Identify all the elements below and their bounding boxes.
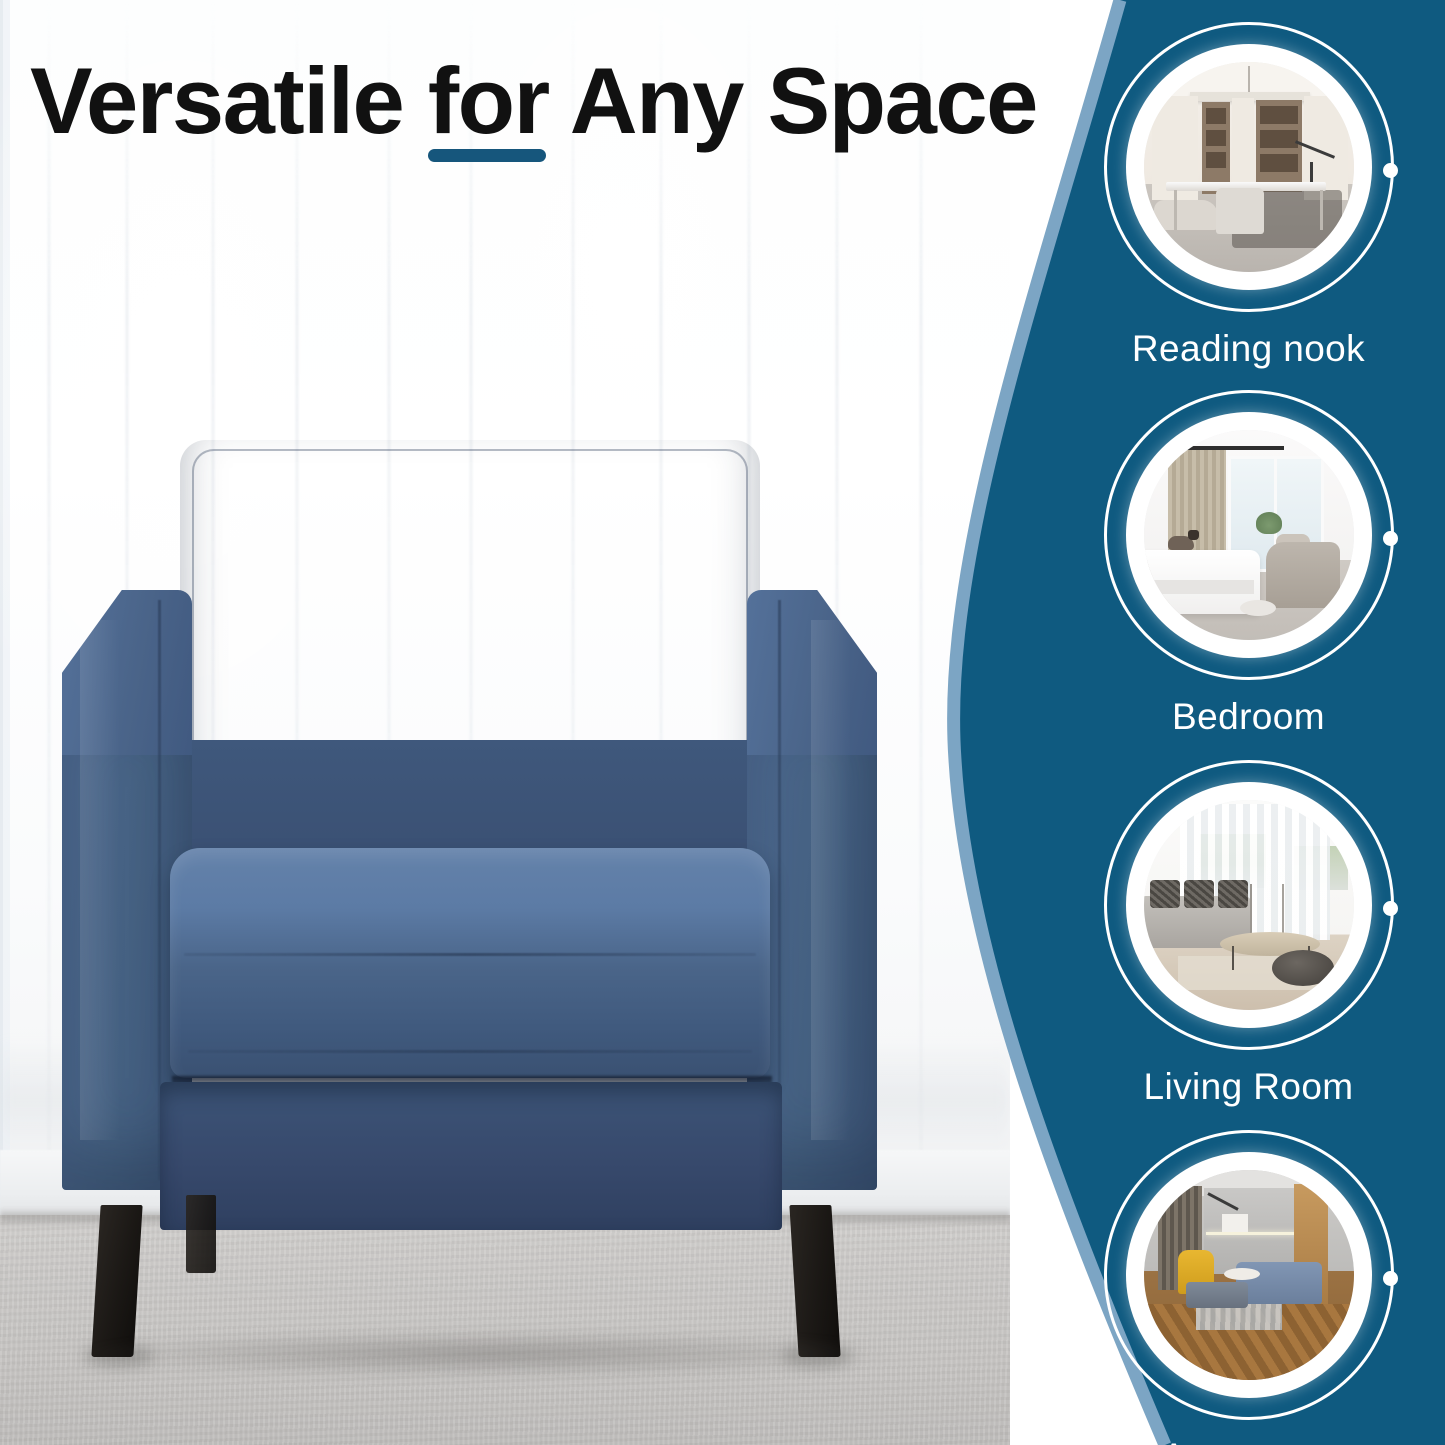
seat-cushion-seam <box>184 953 756 956</box>
armchair-back-highlight <box>212 462 632 762</box>
ring-dot-icon <box>1383 531 1398 546</box>
thumbnail-wrapper <box>1104 1130 1394 1420</box>
decorative-branches <box>1250 884 1284 934</box>
bed-skirt <box>1150 580 1254 594</box>
table-leg <box>1232 946 1234 970</box>
throw-pillow <box>1184 880 1214 908</box>
desk-chair <box>1216 188 1264 234</box>
desk-leg <box>1174 190 1177 230</box>
thumbnail-wrapper <box>1104 22 1394 312</box>
side-sofa <box>1154 200 1218 230</box>
bedroom-scene <box>1144 430 1354 640</box>
bookshelf-inner <box>1260 154 1298 172</box>
ottoman <box>1186 1282 1248 1308</box>
arm-highlight <box>80 620 120 1140</box>
apartment-thumbnail <box>1144 1170 1354 1380</box>
apartment-scene <box>1144 1170 1354 1380</box>
bookshelf-inner <box>1206 130 1226 146</box>
room-card-label: Living Room <box>1052 1066 1445 1108</box>
room-card-label: Bedroom <box>1052 696 1445 738</box>
seat-cushion-lower-seam <box>188 1050 752 1053</box>
armchair <box>1266 542 1340 608</box>
lamp-shade <box>1222 1214 1248 1232</box>
product-marketing-image: Versatile for Any Space <box>0 0 1445 1445</box>
thumbnail-wrapper <box>1104 760 1394 1050</box>
bookshelf-inner <box>1206 108 1226 124</box>
throw-pillow <box>1218 880 1248 908</box>
armchair-back-left-leg <box>186 1195 216 1273</box>
room-card[interactable]: Apartment <box>1052 1130 1445 1445</box>
armchair-seat-cushion <box>170 848 770 1078</box>
room-card-label: Reading nook <box>1052 328 1445 370</box>
coffee-table <box>1224 1268 1260 1280</box>
pendant-cord <box>1248 66 1250 94</box>
side-table <box>1240 600 1276 616</box>
ring-dot-icon <box>1383 163 1398 178</box>
armchair-base <box>160 1082 782 1230</box>
title-accent-bar <box>428 149 546 162</box>
ring-dot-icon <box>1383 901 1398 916</box>
reading-nook-thumbnail <box>1144 62 1354 272</box>
product-photo <box>0 0 1010 1445</box>
room-card[interactable]: Reading nook <box>1052 22 1445 370</box>
ring-dot-icon <box>1383 1271 1398 1286</box>
thumbnail-wrapper <box>1104 390 1394 680</box>
page-title: Versatile for Any Space <box>30 52 1037 151</box>
desk-leg <box>1320 190 1323 230</box>
bookshelf-inner <box>1260 106 1298 124</box>
armchair-floor-shadow <box>80 1330 890 1378</box>
floor-pouf <box>1272 950 1334 986</box>
arm-highlight <box>811 620 851 1140</box>
bedroom-thumbnail <box>1144 430 1354 640</box>
throw-pillow <box>1150 880 1180 908</box>
cat-head <box>1188 530 1199 540</box>
armchair <box>62 440 877 1240</box>
room-card[interactable]: Living Room <box>1052 760 1445 1108</box>
bookshelf-inner <box>1206 152 1226 168</box>
room-card[interactable]: Bedroom <box>1052 390 1445 738</box>
room-card-list: Reading nook <box>1052 0 1445 1445</box>
study-room-scene <box>1144 62 1354 272</box>
living-room-thumbnail <box>1144 800 1354 1010</box>
room-card-label: Apartment <box>1052 1436 1445 1445</box>
led-light-strip <box>1206 1232 1304 1235</box>
bookshelf-inner <box>1260 130 1298 148</box>
living-room-scene <box>1144 800 1354 1010</box>
potted-plant <box>1256 512 1282 534</box>
